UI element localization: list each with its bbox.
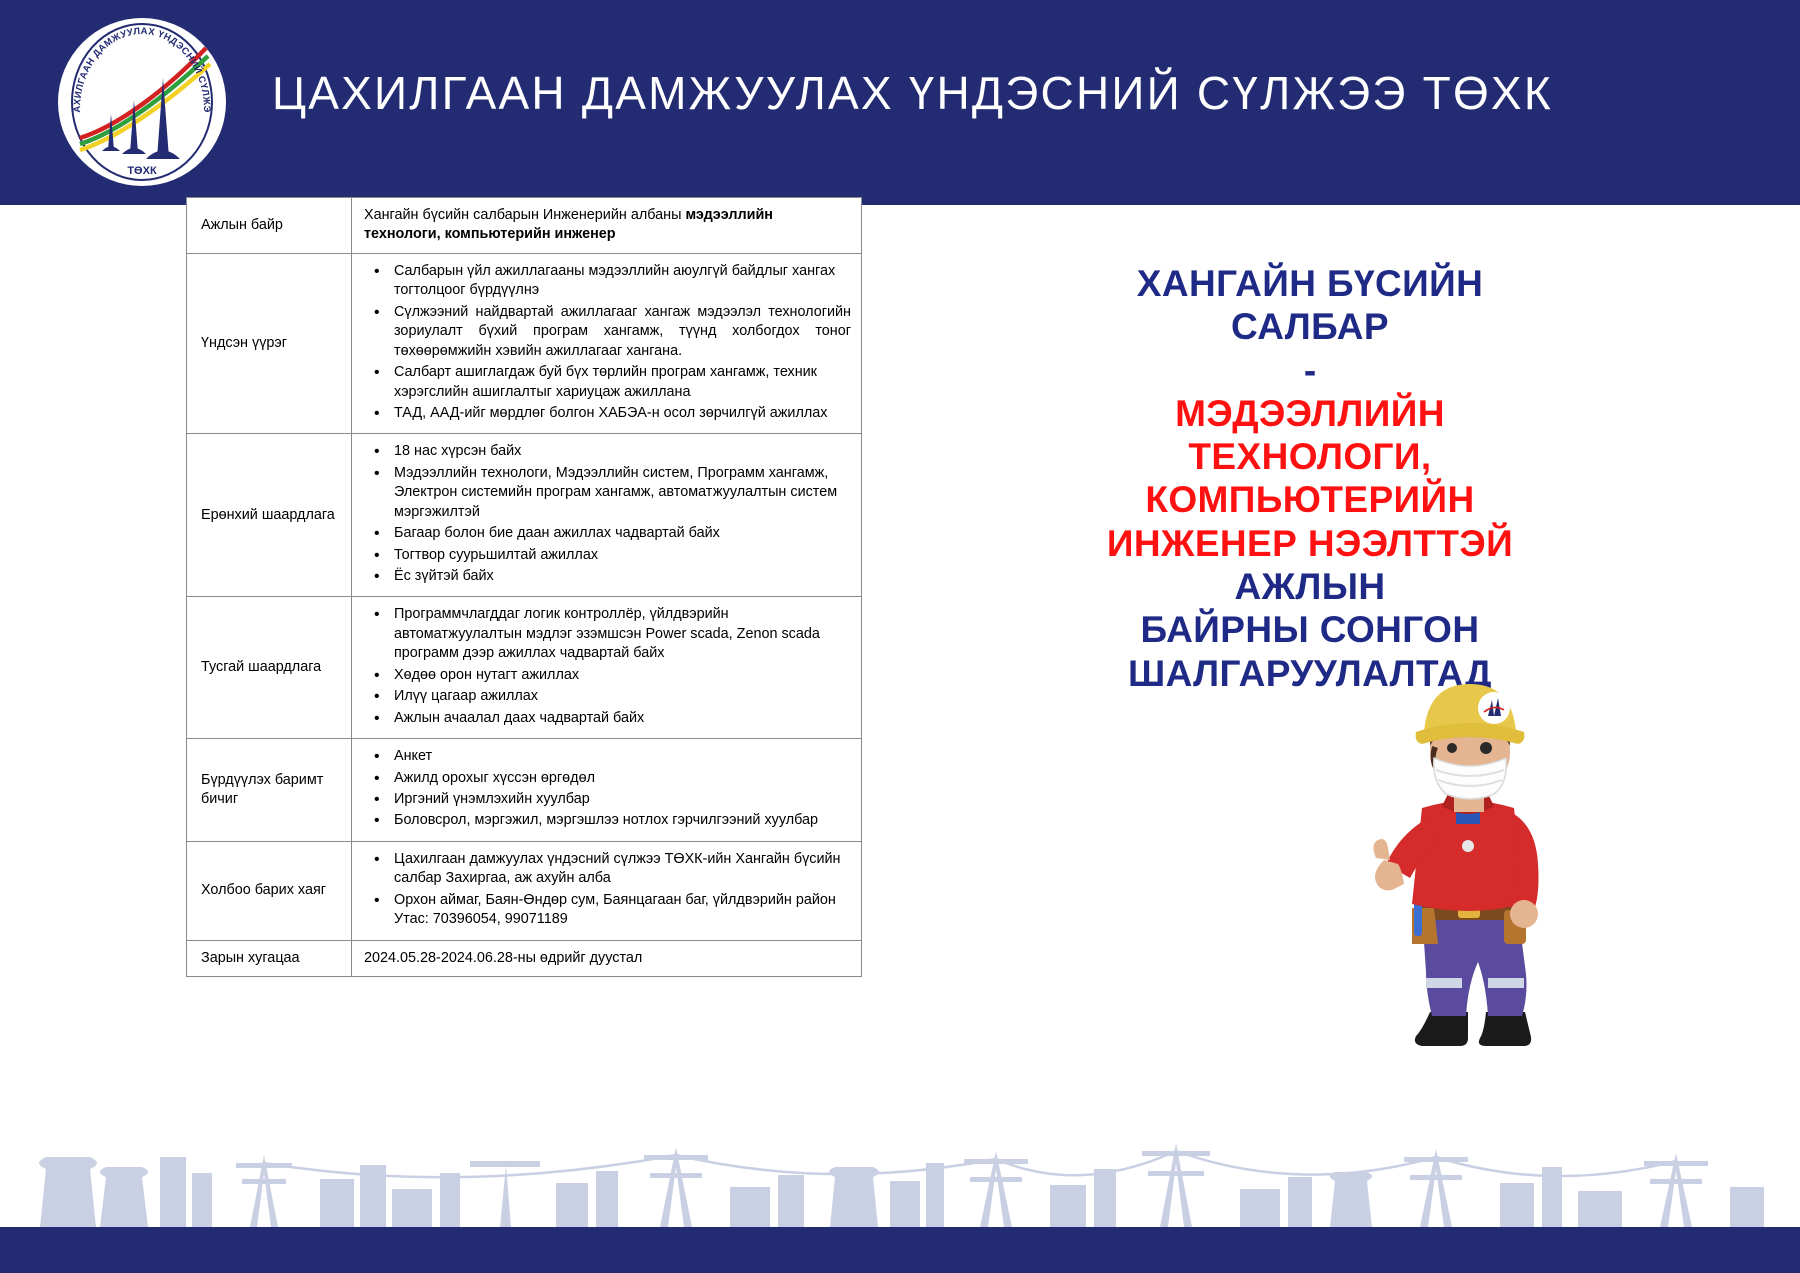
poster-page: ЦАХИЛГААН ДАМЖУУЛАХ ҮНДЭСНИЙ СҮЛЖЭЭ ТӨХК… bbox=[0, 0, 1800, 1273]
headline-line-4: МЭДЭЭЛЛИЙН bbox=[960, 392, 1660, 435]
table-row: Бүрдүүлэх баримт бичиг Анкет Ажилд орохы… bbox=[187, 739, 862, 842]
headline-line-6: КОМПЬЮТЕРИЙН bbox=[960, 478, 1660, 521]
footer-bar bbox=[0, 1227, 1800, 1273]
list-item: Хөдөө орон нутагт ажиллах bbox=[364, 666, 851, 685]
page-title: ЦАХИЛГААН ДАМЖУУЛАХ ҮНДЭСНИЙ СҮЛЖЭЭ ТӨХК bbox=[272, 66, 1553, 120]
table-row: Зарын хугацаа 2024.05.28-2024.06.28-ны ө… bbox=[187, 940, 862, 976]
page-header: ЦАХИЛГААН ДАМЖУУЛАХ ҮНДЭСНИЙ СҮЛЖЭЭ ТӨХК… bbox=[0, 0, 1800, 205]
list-item: Ажилд орохыг хүссэн өргөдөл bbox=[364, 769, 851, 788]
headline-line-7: ИНЖЕНЕР НЭЭЛТТЭЙ bbox=[960, 522, 1660, 565]
list-item: Багаар болон бие даан ажиллах чадвартай … bbox=[364, 524, 851, 543]
job-title-text: Хангайн бүсийн салбарын Инженерийн албан… bbox=[364, 206, 851, 245]
row-value: Цахилгаан дамжуулах үндэсний сүлжээ ТӨХК… bbox=[352, 841, 862, 940]
headline-line-1: ХАНГАЙН БҮСИЙН bbox=[960, 262, 1660, 305]
list-item: Иргэний үнэмлэхийн хуулбар bbox=[364, 790, 851, 809]
job-title-plain: Хангайн бүсийн салбарын Инженерийн албан… bbox=[364, 207, 685, 223]
list-item: Тогтвор суурьшилтай ажиллах bbox=[364, 546, 851, 565]
bullet-list: Салбарын үйл ажиллагааны мэдээллийн аюул… bbox=[364, 262, 851, 424]
logo-bottom-text: ТӨХК bbox=[127, 165, 157, 177]
headline-line-8: АЖЛЫН bbox=[960, 565, 1660, 608]
list-item: Илүү цагаар ажиллах bbox=[364, 687, 851, 706]
bullet-list: 18 нас хүрсэн байх Мэдээллийн технологи,… bbox=[364, 442, 851, 586]
list-item: Орхон аймаг, Баян-Өндөр сум, Баянцагаан … bbox=[364, 891, 851, 930]
announcement-headline: ХАНГАЙН БҮСИЙН САЛБАР - МЭДЭЭЛЛИЙН ТЕХНО… bbox=[960, 262, 1660, 695]
logo-graphic-icon: ЦАХИЛГААН ДАМЖУУЛАХ ҮНДЭСНИЙ СҮЛЖЭЭ ТӨХК bbox=[58, 18, 226, 186]
list-item: ТАД, ААД-ийг мөрдлөг болгон ХАБЭА-н осол… bbox=[364, 404, 851, 423]
company-logo: ЦАХИЛГААН ДАМЖУУЛАХ ҮНДЭСНИЙ СҮЛЖЭЭ ТӨХК bbox=[58, 18, 226, 186]
row-value: Хангайн бүсийн салбарын Инженерийн албан… bbox=[352, 198, 862, 254]
posting-period-text: 2024.05.28-2024.06.28-ны өдрийг дуустал bbox=[364, 949, 851, 968]
list-item: Боловсрол, мэргэжил, мэргэшлээ нотлох гэ… bbox=[364, 811, 851, 830]
headline-line-5: ТЕХНОЛОГИ, bbox=[960, 435, 1660, 478]
list-item: Салбарт ашиглагдаж буй бүх төрлийн прогр… bbox=[364, 363, 851, 402]
list-item: Салбарын үйл ажиллагааны мэдээллийн аюул… bbox=[364, 262, 851, 301]
table-row: Тусгай шаардлага Программчлагддаг логик … bbox=[187, 597, 862, 739]
list-item: Цахилгаан дамжуулах үндэсний сүлжээ ТӨХК… bbox=[364, 850, 851, 889]
list-item: Ёс зүйтэй байх bbox=[364, 567, 851, 586]
row-value: 18 нас хүрсэн байх Мэдээллийн технологи,… bbox=[352, 434, 862, 597]
row-label: Үндсэн үүрэг bbox=[187, 253, 352, 434]
headline-separator: - bbox=[960, 349, 1660, 392]
row-label: Зарын хугацаа bbox=[187, 940, 352, 976]
row-value: Анкет Ажилд орохыг хүссэн өргөдөл Иргэни… bbox=[352, 739, 862, 842]
row-label: Холбоо барих хаяг bbox=[187, 841, 352, 940]
list-item: Мэдээллийн технологи, Мэдээллийн систем,… bbox=[364, 464, 851, 522]
list-item: 18 нас хүрсэн байх bbox=[364, 442, 851, 461]
bullet-list: Цахилгаан дамжуулах үндэсний сүлжээ ТӨХК… bbox=[364, 850, 851, 930]
job-spec-table: Ажлын байр Хангайн бүсийн салбарын Инжен… bbox=[186, 197, 862, 977]
row-value: Салбарын үйл ажиллагааны мэдээллийн аюул… bbox=[352, 253, 862, 434]
row-value: Программчлагддаг логик контроллёр, үйлдв… bbox=[352, 597, 862, 739]
table-row: Холбоо барих хаяг Цахилгаан дамжуулах үн… bbox=[187, 841, 862, 940]
list-item: Анкет bbox=[364, 747, 851, 766]
table-row: Ерөнхий шаардлага 18 нас хүрсэн байх Мэд… bbox=[187, 434, 862, 597]
bullet-list: Анкет Ажилд орохыг хүссэн өргөдөл Иргэни… bbox=[364, 747, 851, 831]
job-spec-table-wrap: Ажлын байр Хангайн бүсийн салбарын Инжен… bbox=[186, 197, 861, 977]
row-label: Ажлын байр bbox=[187, 198, 352, 254]
logo-oval-icon: ЦАХИЛГААН ДАМЖУУЛАХ ҮНДЭСНИЙ СҮЛЖЭЭ ТӨХК bbox=[58, 18, 226, 186]
headline-line-2: САЛБАР bbox=[960, 305, 1660, 348]
list-item: Сүлжээний найдвартай ажиллагааг хангаж м… bbox=[364, 303, 851, 361]
bullet-list: Программчлагддаг логик контроллёр, үйлдв… bbox=[364, 605, 851, 728]
safety-worker-mascot-icon bbox=[1318, 660, 1618, 1060]
table-row: Ажлын байр Хангайн бүсийн салбарын Инжен… bbox=[187, 198, 862, 254]
row-value: 2024.05.28-2024.06.28-ны өдрийг дуустал bbox=[352, 940, 862, 976]
list-item: Ажлын ачаалал даах чадвартай байх bbox=[364, 709, 851, 728]
footer-skyline-graphic bbox=[0, 1117, 1800, 1227]
row-label: Бүрдүүлэх баримт бичиг bbox=[187, 739, 352, 842]
list-item: Программчлагддаг логик контроллёр, үйлдв… bbox=[364, 605, 851, 663]
job-spec-table-body: Ажлын байр Хангайн бүсийн салбарын Инжен… bbox=[187, 198, 862, 977]
headline-line-9: БАЙРНЫ СОНГОН bbox=[960, 608, 1660, 651]
table-row: Үндсэн үүрэг Салбарын үйл ажиллагааны мэ… bbox=[187, 253, 862, 434]
row-label: Ерөнхий шаардлага bbox=[187, 434, 352, 597]
row-label: Тусгай шаардлага bbox=[187, 597, 352, 739]
